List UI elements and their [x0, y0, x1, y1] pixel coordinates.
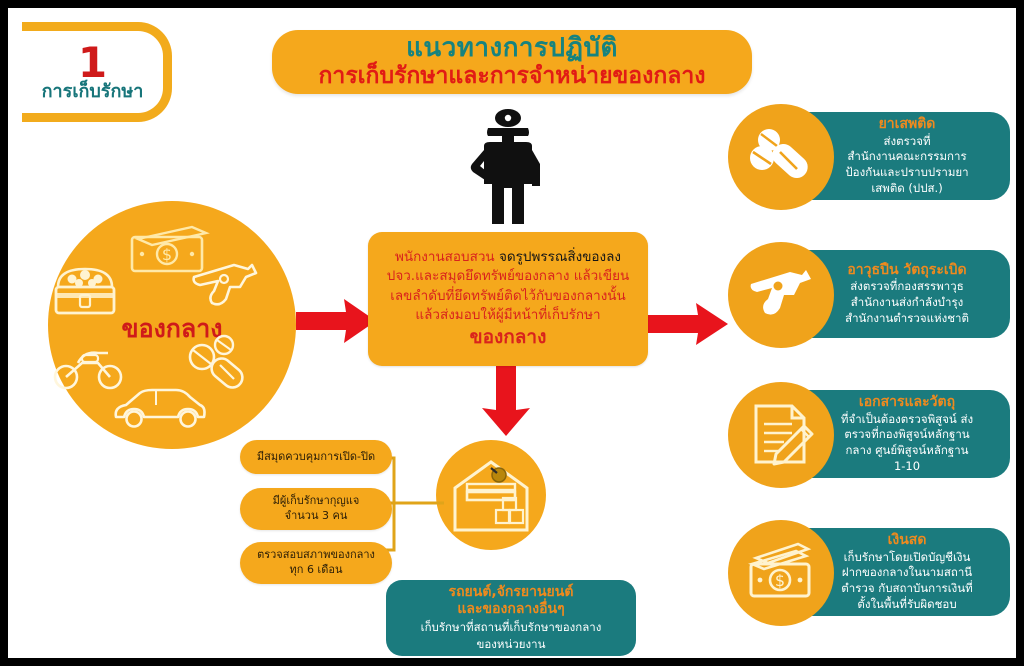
category-card-cash-body-4: ตั้งในพื้นที่รับผิดชอบ: [857, 597, 956, 612]
category-card-cash-head: เงินสด: [888, 532, 927, 549]
svg-text:$: $: [775, 571, 785, 590]
process-line-4: แล้วส่งมอบให้ผู้มีหน้าที่เก็บรักษา: [415, 306, 600, 325]
cash-icon: $: [748, 540, 814, 606]
storage-rule-3: ตรวจสอบสภาพของกลาง ทุก 6 เดือน: [240, 542, 392, 584]
category-card-narcotics-body-1: ส่งตรวจที่: [883, 134, 930, 149]
category-card-weapons: อาวุธปืน วัตถุระเบิด ส่งตรวจที่กองสรรพาว…: [728, 242, 1016, 346]
step-badge: 1 การเก็บรักษา: [22, 22, 172, 122]
process-line-1-rest: จดรูปพรรณสิ่งของลง: [499, 249, 621, 265]
category-card-cash-body-2: ฝากของกลางในนามสถานี: [842, 565, 972, 580]
step-number: 1: [78, 43, 107, 83]
warehouse-icon: [450, 454, 532, 536]
vehicle-storage-head-1: รถยนต์,จักรยานยนต์: [449, 584, 574, 601]
vehicle-storage-head-2: และของกลางอื่นๆ: [457, 601, 564, 618]
treasure-chest-icon: [52, 263, 118, 319]
category-card-cash-body-3: ตำรวจ กับสถาบันการเงินที่: [841, 581, 972, 596]
category-card-narcotics-icon-circle: [728, 104, 834, 210]
category-card-weapons-head: อาวุธปืน วัตถุระเบิด: [847, 262, 966, 279]
storage-rule-2: มีผู้เก็บรักษากุญแจ จำนวน 3 คน: [240, 488, 392, 530]
process-line-3: เลขลำดับที่ยึดทรัพย์ติดไว้กับของกลางนั้น: [390, 287, 626, 306]
category-card-documents-body-3: กลาง ศูนย์พิสูจน์หลักฐาน: [845, 443, 968, 458]
arrow-right-icon: [296, 296, 378, 346]
category-card-cash: เงินสด เก็บรักษาโดยเปิดบัญชีเงิน ฝากของก…: [728, 520, 1016, 624]
document-pen-icon: [748, 402, 814, 468]
category-card-documents-body-4: 1-10: [894, 459, 920, 474]
category-card-documents-body-1: ที่จำเป็นต้องตรวจพิสูจน์ ส่ง: [841, 412, 973, 427]
arrow-down-icon: [476, 366, 536, 438]
arrow-right-icon: [648, 300, 730, 348]
category-card-narcotics-head: ยาเสพติด: [879, 116, 936, 133]
category-card-weapons-body-3: สำนักงานตำรวจแห่งชาติ: [845, 311, 969, 326]
storage-rule-2-line-1: มีผู้เก็บรักษากุญแจ: [273, 494, 360, 509]
storage-rule-2-line-2: จำนวน 3 คน: [285, 509, 348, 524]
vehicle-storage-body-1: เก็บรักษาที่สถานที่เก็บรักษาของกลาง: [421, 620, 602, 635]
category-card-weapons-body-1: ส่งตรวจที่กองสรรพาวุธ: [850, 279, 963, 294]
motorcycle-icon: [52, 341, 126, 391]
storage-facility-circle: [436, 440, 546, 550]
infographic-frame: 1 การเก็บรักษา แนวทางการปฏิบัติ การเก็บร…: [0, 0, 1024, 666]
infographic-canvas: 1 การเก็บรักษา แนวทางการปฏิบัติ การเก็บร…: [8, 8, 1016, 658]
category-card-documents-body-2: ตรวจที่กองพิสูจน์หลักฐาน: [844, 427, 969, 442]
storage-rule-3-line-2: ทุก 6 เดือน: [290, 563, 343, 578]
svg-text:$: $: [162, 245, 172, 264]
process-emphasis: ของกลาง: [470, 326, 547, 350]
vehicle-storage-box: รถยนต์,จักรยานยนต์ และของกลางอื่นๆ เก็บร…: [386, 580, 636, 656]
step-label: การเก็บรักษา: [42, 83, 144, 101]
category-card-narcotics-body-4: เสพติด (ปปส.): [871, 181, 942, 196]
storage-rule-1-line-1: มีสมุดควบคุมการเปิด-ปิด: [257, 450, 375, 465]
gun-icon: [190, 259, 260, 309]
page-title: แนวทางการปฏิบัติ การเก็บรักษาและการจำหน่…: [272, 30, 752, 94]
category-card-narcotics-body-2: สำนักงานคณะกรรมการ: [847, 149, 966, 164]
title-line-1: แนวทางการปฏิบัติ: [406, 35, 618, 62]
category-card-documents: เอกสารและวัตถุ ที่จำเป็นต้องตรวจพิสูจน์ …: [728, 382, 1016, 486]
category-card-cash-body-1: เก็บรักษาโดยเปิดบัญชีเงิน: [844, 550, 971, 565]
car-icon: [110, 387, 208, 433]
category-card-narcotics: ยาเสพติด ส่งตรวจที่ สำนักงานคณะกรรมการ ป…: [728, 104, 1016, 208]
evidence-source-circle: ของกลาง $: [48, 201, 296, 449]
category-card-weapons-icon-circle: [728, 242, 834, 348]
category-card-weapons-body-2: สำนักงานส่งกำลังบำรุง: [851, 295, 964, 310]
police-officer-icon: [444, 106, 572, 228]
category-card-cash-icon-circle: $: [728, 520, 834, 626]
process-box: พนักงานสอบสวน จดรูปพรรณสิ่งของลง ปจว.และ…: [368, 232, 648, 366]
pills-icon: [748, 124, 814, 190]
storage-rule-3-line-1: ตรวจสอบสภาพของกลาง: [257, 548, 375, 563]
process-line-1: พนักงานสอบสวน จดรูปพรรณสิ่งของลง: [395, 248, 621, 267]
category-card-documents-head: เอกสารและวัตถุ: [859, 394, 955, 411]
process-line-2: ปจว.และสมุดยึดทรัพย์ของกลาง แล้วเขียน: [387, 267, 630, 286]
title-line-2: การเก็บรักษาและการจำหน่ายของกลาง: [318, 64, 705, 89]
category-card-narcotics-body-3: ป้องกันและปราบปรามยา: [845, 165, 968, 180]
vehicle-storage-body-2: ของหน่วยงาน: [477, 637, 546, 652]
category-card-documents-icon-circle: [728, 382, 834, 488]
storage-rule-1: มีสมุดควบคุมการเปิด-ปิด: [240, 440, 392, 474]
process-highlight: พนักงานสอบสวน: [395, 249, 495, 265]
gun-icon: [748, 262, 814, 328]
